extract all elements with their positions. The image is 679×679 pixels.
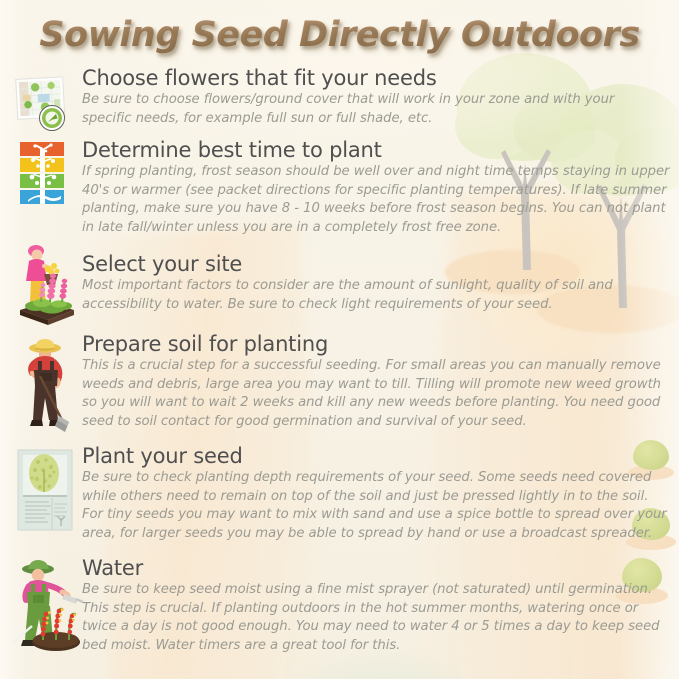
- step-body: This is a crucial step for a successful …: [82, 357, 670, 431]
- flower-bed-planting-icon: [14, 240, 76, 326]
- step-body: If spring planting, frost season should …: [82, 163, 670, 237]
- page-title: Sowing Seed Directly Outdoors: [0, 15, 679, 55]
- step-body: Be sure to check planting depth requirem…: [82, 469, 670, 543]
- gardener-with-shovel-icon: [18, 336, 74, 436]
- step-text-5: Plant your seed Be sure to check plantin…: [82, 444, 670, 543]
- step-heading: Prepare soil for planting: [82, 332, 670, 356]
- step-text-3: Select your site Most important factors …: [82, 252, 657, 314]
- infographic-poster: Sowing Seed Directly Outdoors: [0, 0, 679, 679]
- step-heading: Determine best time to plant: [82, 138, 670, 162]
- step-text-4: Prepare soil for planting This is a cruc…: [82, 332, 670, 431]
- step-heading: Choose flowers that fit your needs: [82, 66, 662, 90]
- step-heading: Plant your seed: [82, 444, 670, 468]
- step-text-2: Determine best time to plant If spring p…: [82, 138, 670, 237]
- four-seasons-icon: [20, 142, 64, 206]
- gardener-watering-icon: [12, 556, 84, 654]
- garden-plan-compass-icon: [14, 74, 70, 132]
- step-text-6: Water Be sure to keep seed moist using a…: [82, 556, 670, 655]
- step-body: Most important factors to consider are t…: [82, 277, 657, 314]
- step-heading: Select your site: [82, 252, 657, 276]
- step-heading: Water: [82, 556, 670, 580]
- step-body: Be sure to keep seed moist using a fine …: [82, 581, 670, 655]
- step-body: Be sure to choose flowers/ground cover t…: [82, 91, 662, 128]
- step-text-1: Choose flowers that fit your needs Be su…: [82, 66, 662, 128]
- seed-packet-icon: [16, 448, 74, 532]
